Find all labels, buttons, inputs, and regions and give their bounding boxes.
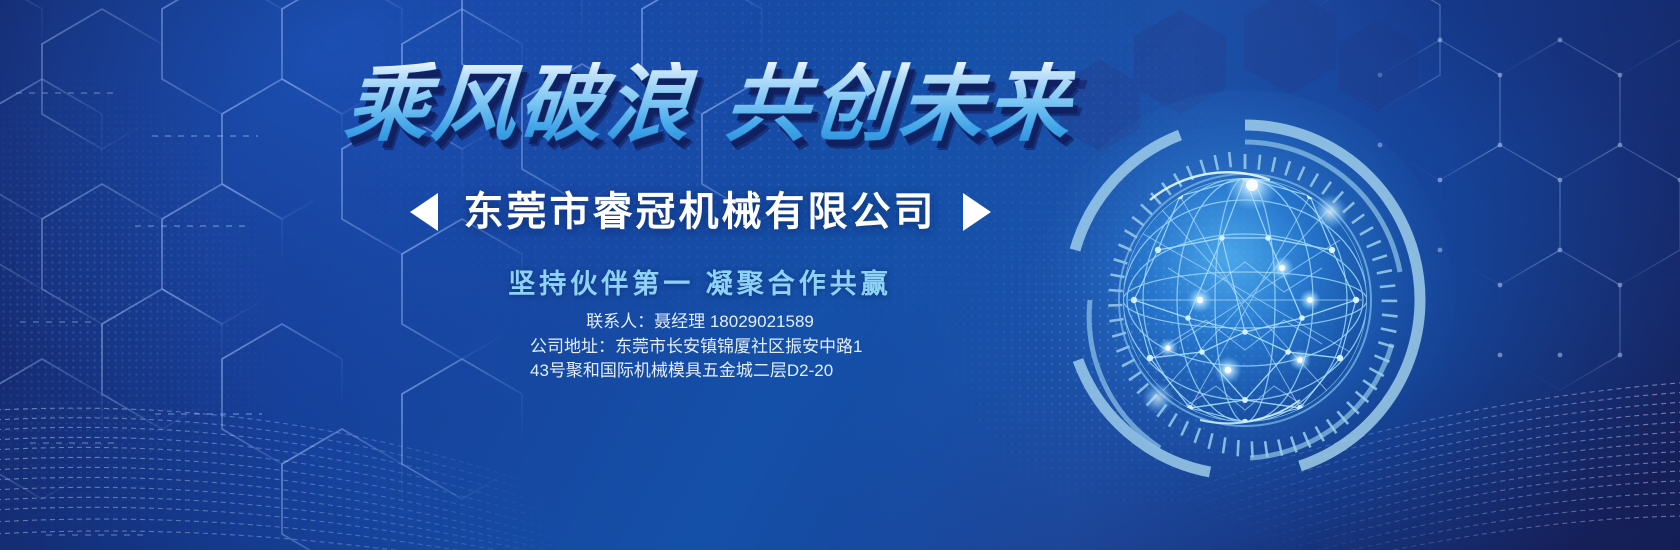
headline-title: 乘风破浪 共创未来 — [342, 62, 1076, 146]
address-label: 公司地址： — [530, 337, 615, 356]
banner-content: 乘风破浪 共创未来 乘风破浪 共创未来 东莞市睿冠机械有限公司 坚持伙伴第一 凝… — [0, 0, 1680, 550]
contact-block: 联系人：聂经理 18029021589 公司地址：东莞市长安镇锦厦社区振安中路1… — [0, 310, 1400, 384]
promo-banner: 乘风破浪 共创未来 乘风破浪 共创未来 东莞市睿冠机械有限公司 坚持伙伴第一 凝… — [0, 0, 1680, 550]
contact-person-line: 联系人：聂经理 18029021589 — [0, 310, 1400, 335]
left-triangle-icon — [410, 193, 438, 231]
right-triangle-icon — [963, 193, 991, 231]
slogan-text: 坚持伙伴第一 凝聚合作共赢 — [0, 262, 1400, 301]
company-address-line: 公司地址：东莞市长安镇锦厦社区振安中路143号聚和国际机械模具五金城二层D2-2… — [530, 335, 870, 384]
company-name-row: 东莞市睿冠机械有限公司 — [0, 192, 1400, 232]
company-name: 东莞市睿冠机械有限公司 — [464, 192, 937, 232]
